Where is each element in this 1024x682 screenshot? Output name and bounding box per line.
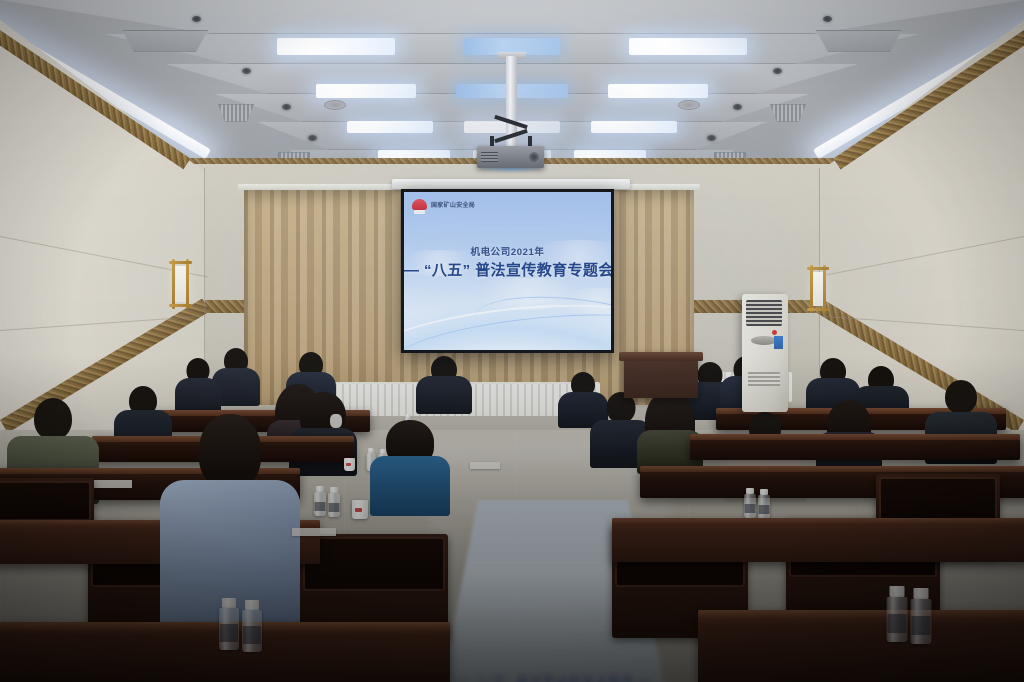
ceiling-coffer-1 — [0, 0, 1024, 34]
water-bottle — [910, 588, 931, 644]
bottle-label — [887, 614, 906, 633]
projection-screen-frame: 国家矿山安全局 机电公司2021年 — “八五” 普法宣传教育专题会 — — [401, 189, 614, 353]
paper-sheet — [292, 528, 336, 536]
slide-logo-mark-icon — [412, 199, 427, 214]
paper-cup — [344, 458, 355, 471]
torso — [175, 378, 221, 414]
hvac-vent-center-left — [218, 104, 254, 122]
ceiling-downlight — [773, 68, 782, 74]
wall-sconce-left — [174, 266, 187, 302]
torso — [370, 456, 450, 516]
water-bottle — [219, 598, 239, 650]
hvac-vent-right — [816, 30, 902, 52]
slide-logo-text: 国家矿山安全局 — [431, 203, 475, 210]
desk-row4-right — [690, 434, 1020, 460]
sconce-frame-bar — [810, 265, 813, 313]
attendee-front-center — [164, 414, 296, 626]
ceiling-light-panel — [316, 84, 416, 98]
slide-subtitle: 机电公司2021年 — [404, 244, 611, 258]
sconce-frame-bar — [807, 267, 829, 270]
sconce-frame-bar — [807, 308, 829, 311]
bottle-label — [243, 626, 261, 644]
ceiling-downlight — [308, 135, 317, 141]
bottle-label — [315, 502, 326, 511]
ceiling-light-panel — [608, 84, 708, 98]
ac-lower-vent-icon — [748, 372, 780, 386]
sconce-frame-bar — [169, 261, 192, 264]
ceiling-light-panel — [629, 38, 747, 55]
bottle-label — [911, 616, 930, 635]
ceiling-light-panel — [277, 38, 395, 55]
water-bottle — [242, 600, 262, 652]
attendee-hoodie — [372, 420, 448, 516]
water-bottle — [314, 486, 326, 516]
water-bottle — [744, 488, 756, 518]
torso — [416, 376, 472, 414]
ac-indicator-led — [772, 330, 777, 335]
head — [945, 380, 977, 414]
bottle-cap — [245, 600, 259, 610]
bottle-label — [220, 624, 238, 642]
ceiling-downlight — [242, 68, 251, 74]
wall-sconce-right — [812, 272, 824, 306]
bottle-label — [329, 503, 340, 512]
paper-sheet — [92, 480, 132, 488]
projector-mount-pole — [506, 56, 517, 160]
ceiling-light-panel — [591, 121, 677, 133]
conference-room-photo: 国家矿山安全局 机电公司2021年 — “八五” 普法宣传教育专题会 — — “… — [0, 0, 1024, 682]
attendee-center-back — [418, 356, 470, 414]
slide-logo: 国家矿山安全局 — [412, 199, 475, 214]
water-bottle — [886, 586, 907, 642]
ceiling-downlight — [733, 104, 742, 110]
slide-main-title: — “八五” 普法宣传教育专题会 — — [404, 259, 611, 280]
bottle-label — [759, 505, 770, 514]
attendee-right-3 — [638, 390, 702, 474]
head — [34, 398, 72, 440]
ceiling-downlight — [192, 16, 201, 22]
hvac-vent-center-right — [770, 104, 806, 122]
bottle-cap — [889, 586, 904, 597]
ceiling-speaker-left — [324, 100, 346, 110]
water-bottle — [328, 487, 340, 517]
hvac-vent-left — [122, 30, 208, 52]
ceiling-downlight — [823, 16, 832, 22]
desk-row2-right — [612, 518, 1024, 562]
reflection-main-title: — “八五” 普法宣传教育专题会 — — [440, 671, 666, 682]
ceiling-downlight — [707, 135, 716, 141]
desk-front-right — [698, 610, 1024, 682]
sconce-frame-bar — [823, 265, 826, 313]
ceiling-downlight — [282, 104, 291, 110]
sconce-frame-bar — [169, 304, 192, 307]
attendee-left-3 — [176, 358, 220, 414]
projector-screen-housing — [392, 179, 630, 189]
face-mask — [330, 414, 342, 428]
sconce-frame-bar — [172, 259, 175, 309]
floor-standing-air-conditioner — [742, 294, 788, 412]
speaker-podium — [624, 352, 698, 398]
ac-energy-label — [774, 336, 783, 349]
bottle-label — [745, 504, 756, 513]
ac-louvers-icon — [746, 300, 782, 326]
sconce-frame-bar — [186, 259, 189, 309]
bottle-cap — [913, 588, 928, 599]
water-bottle — [758, 489, 770, 519]
paper-cup — [352, 500, 368, 519]
projection-screen: 国家矿山安全局 机电公司2021年 — “八五” 普法宣传教育专题会 — — [404, 192, 611, 350]
ceiling-speaker-right — [678, 100, 700, 110]
bottle-cap — [222, 598, 236, 608]
ceiling-light-panel — [347, 121, 433, 133]
projector — [477, 146, 544, 168]
paper-sheet — [470, 462, 500, 469]
